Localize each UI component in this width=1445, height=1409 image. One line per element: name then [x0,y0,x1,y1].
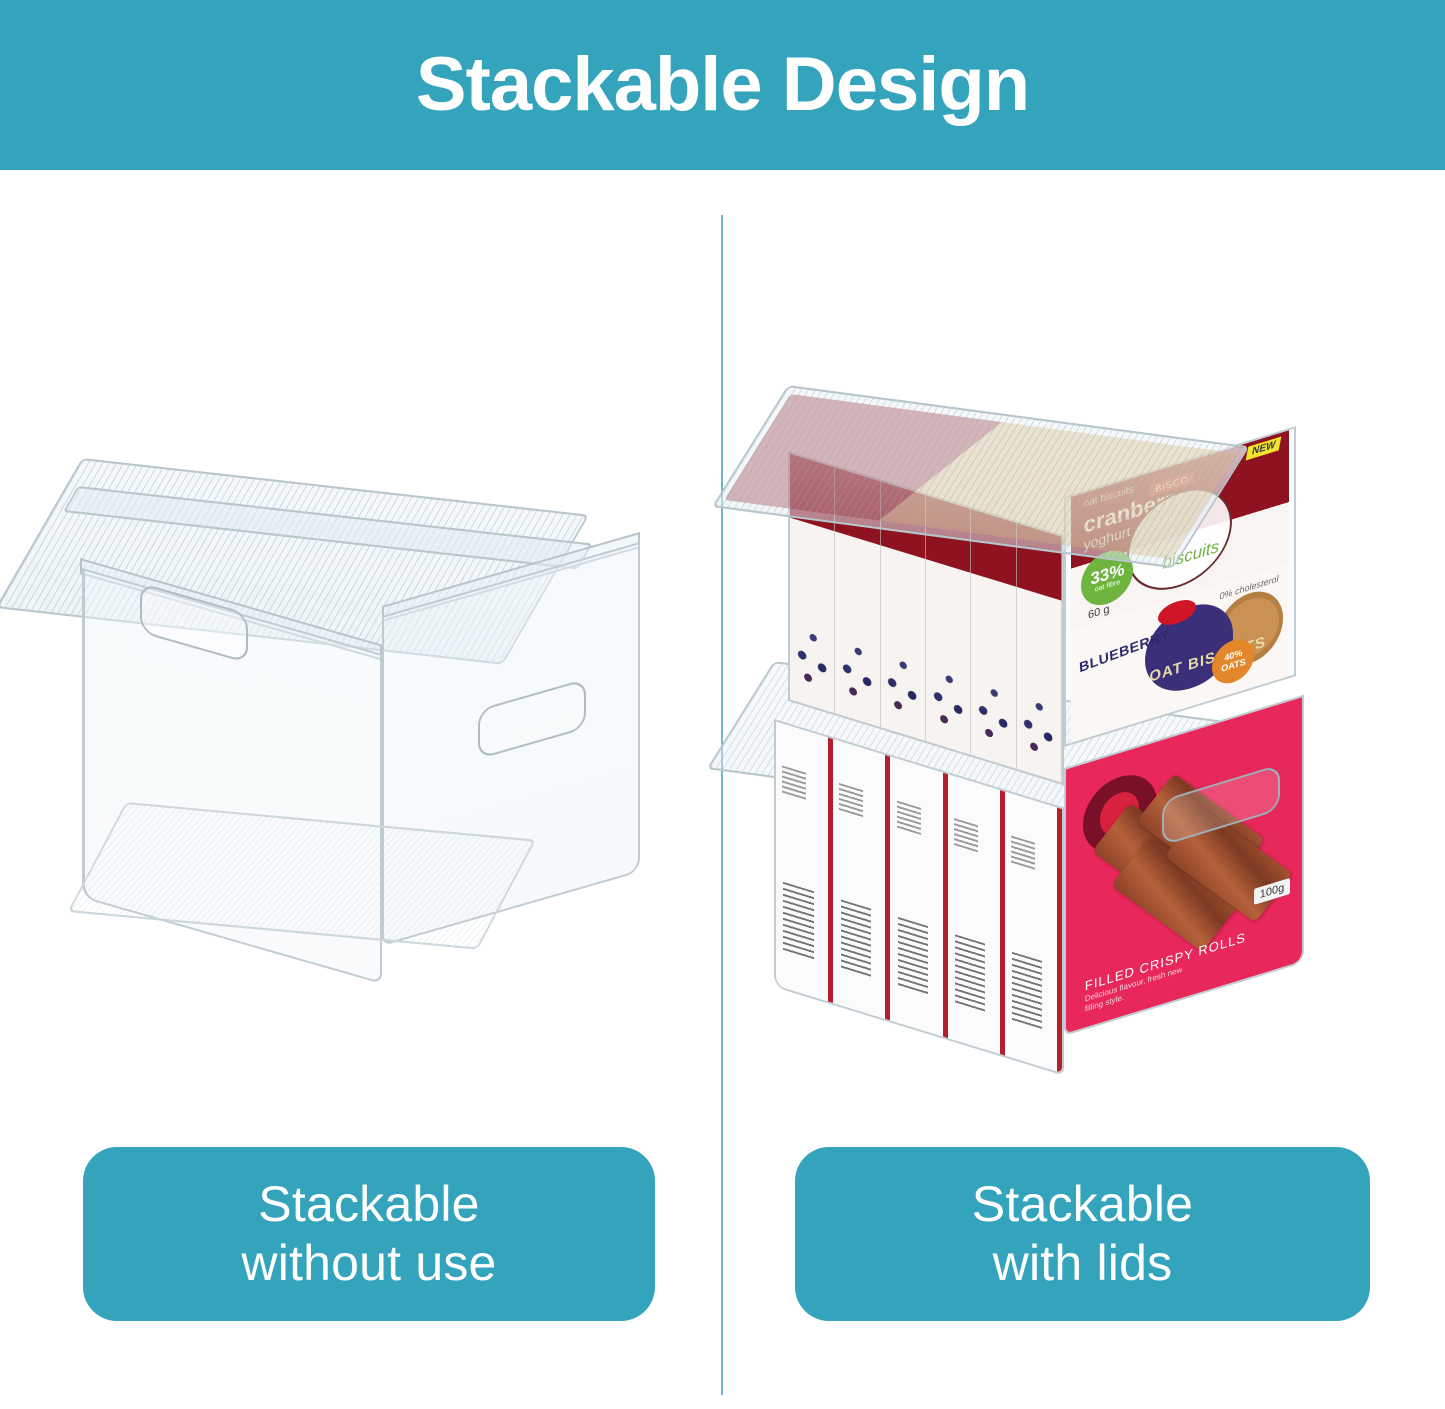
caption-pill-right: Stackable with lids [795,1147,1370,1321]
snack-packet [971,509,1016,769]
product-image-bins-stacked-with-lids: 100g FILLED CRISPY ROLLS Delicious flavo… [770,375,1390,1115]
product-image-bin-without-lid-use [60,450,680,1010]
caption-right-text: Stackable with lids [972,1175,1193,1293]
carton-print-mark [839,783,863,817]
carton-box [948,774,1005,1055]
header-banner: Stackable Design [0,0,1445,170]
carton-barcode [1012,952,1042,1030]
snack-packet [1017,523,1062,783]
carton-barcode [955,935,985,1013]
panel-right: 100g FILLED CRISPY ROLLS Delicious flavo… [723,170,1445,1409]
carton-print-mark [897,801,921,835]
caption-pill-left: Stackable without use [83,1147,655,1321]
carton-box [1005,792,1062,1073]
carton-box [833,739,890,1020]
carton-barcode [841,900,871,978]
page-title: Stackable Design [416,47,1029,123]
carton-box [890,757,947,1038]
caption-left-text: Stackable without use [241,1175,496,1293]
panel-left: Stackable without use [0,170,721,1409]
carton-print-mark [782,766,806,800]
carton-print-mark [1011,836,1035,870]
carton-barcode [898,917,928,995]
carton-barcode [783,882,813,960]
new-flash-badge: NEW [1246,436,1282,460]
carton-box [776,722,833,1003]
carton-print-mark [954,818,978,852]
